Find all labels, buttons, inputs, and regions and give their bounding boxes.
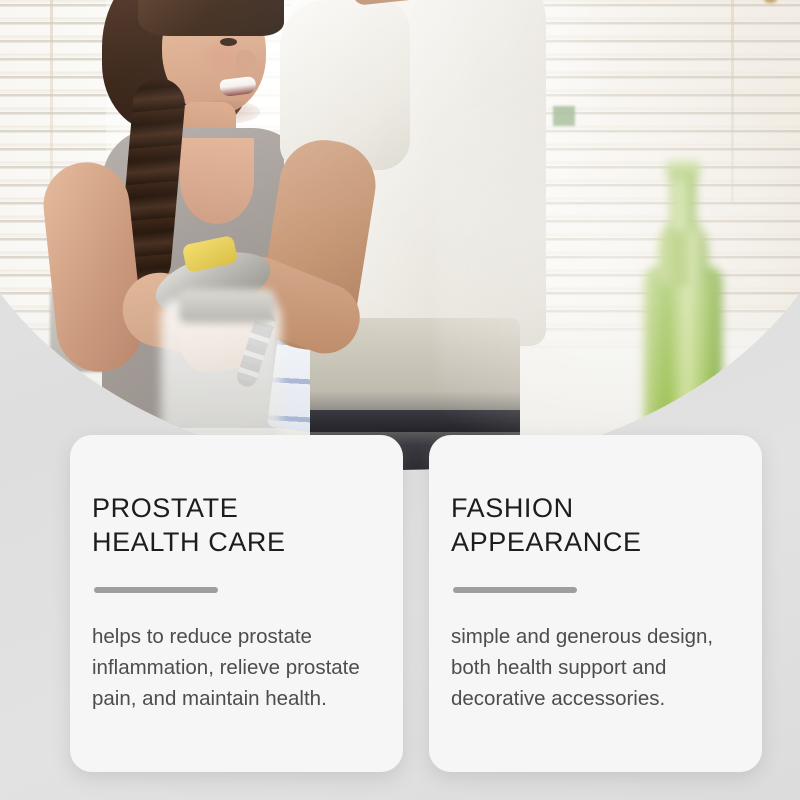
feature-card-divider xyxy=(94,587,218,593)
hero-photo-scene xyxy=(0,0,800,470)
green-bottle-neck xyxy=(670,169,696,231)
blind-cord-right xyxy=(731,0,734,204)
hero-photo xyxy=(0,0,800,470)
feature-card-title: PROSTATE HEALTH CARE xyxy=(92,491,379,559)
feature-card-divider xyxy=(453,587,577,593)
page-root: PROSTATE HEALTH CARE helps to reduce pro… xyxy=(0,0,800,800)
man-belt xyxy=(310,410,520,432)
green-bottle-body xyxy=(644,266,722,456)
green-bottle xyxy=(644,156,722,456)
feature-card-prostate-health-care: PROSTATE HEALTH CARE helps to reduce pro… xyxy=(70,435,403,772)
feature-cards: PROSTATE HEALTH CARE helps to reduce pro… xyxy=(70,435,762,772)
glass-jar-lid xyxy=(179,289,275,323)
woman-eye xyxy=(220,38,237,46)
green-bottle-cap xyxy=(666,160,700,178)
feature-card-body: simple and generous design, both health … xyxy=(451,621,738,714)
feature-card-body: helps to reduce prostate inflammation, r… xyxy=(92,621,379,714)
feature-card-title: FASHION APPEARANCE xyxy=(451,491,738,559)
man-figure xyxy=(240,0,600,470)
feature-card-fashion-appearance: FASHION APPEARANCE simple and generous d… xyxy=(429,435,762,772)
